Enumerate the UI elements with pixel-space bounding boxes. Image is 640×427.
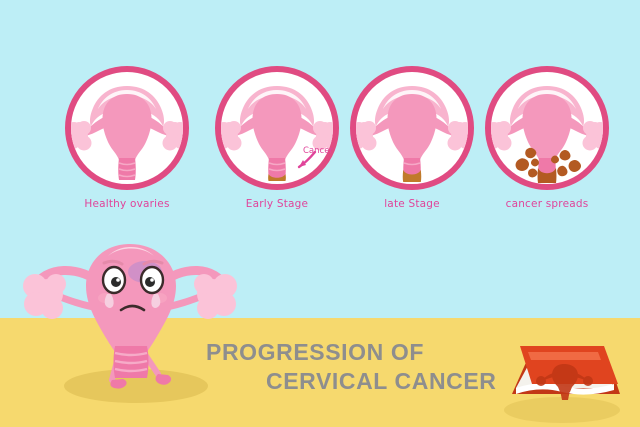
stage-label-early: Early Stage [213,198,341,210]
stage-label-late: late Stage [348,198,476,210]
title-line-2: CERVICAL CANCER [200,367,510,396]
stage-disc-spreads [485,66,609,190]
stage-panel-early[interactable]: Cancer Early Stage [213,66,341,210]
book-shadow [504,397,620,423]
uterus-illustration-spreads [485,66,609,190]
mascot-hand-left-ovary [23,274,66,319]
stage-panel-late[interactable]: late Stage [348,66,476,210]
stage-disc-healthy [65,66,189,190]
mascot-hand-right-ovary [194,274,237,319]
cancer-annotation-label: Cancer [303,146,333,156]
medical-book[interactable] [498,330,626,424]
title-line-1: PROGRESSION OF [200,338,510,367]
stage-label-healthy: Healthy ovaries [63,198,191,210]
book-cover-band [528,352,601,360]
infographic-canvas: Healthy ovaries [0,0,640,427]
page-title: PROGRESSION OF CERVICAL CANCER [200,338,510,397]
uterus-illustration-late [350,66,474,190]
stage-disc-late [350,66,474,190]
stage-panel-spreads[interactable]: cancer spreads [483,66,611,210]
cancer-arrow-early [215,66,339,190]
stage-panel-healthy[interactable]: Healthy ovaries [63,66,191,210]
stage-label-spreads: cancer spreads [483,198,611,210]
uterus-illustration-healthy [65,66,189,190]
stage-disc-early [215,66,339,190]
